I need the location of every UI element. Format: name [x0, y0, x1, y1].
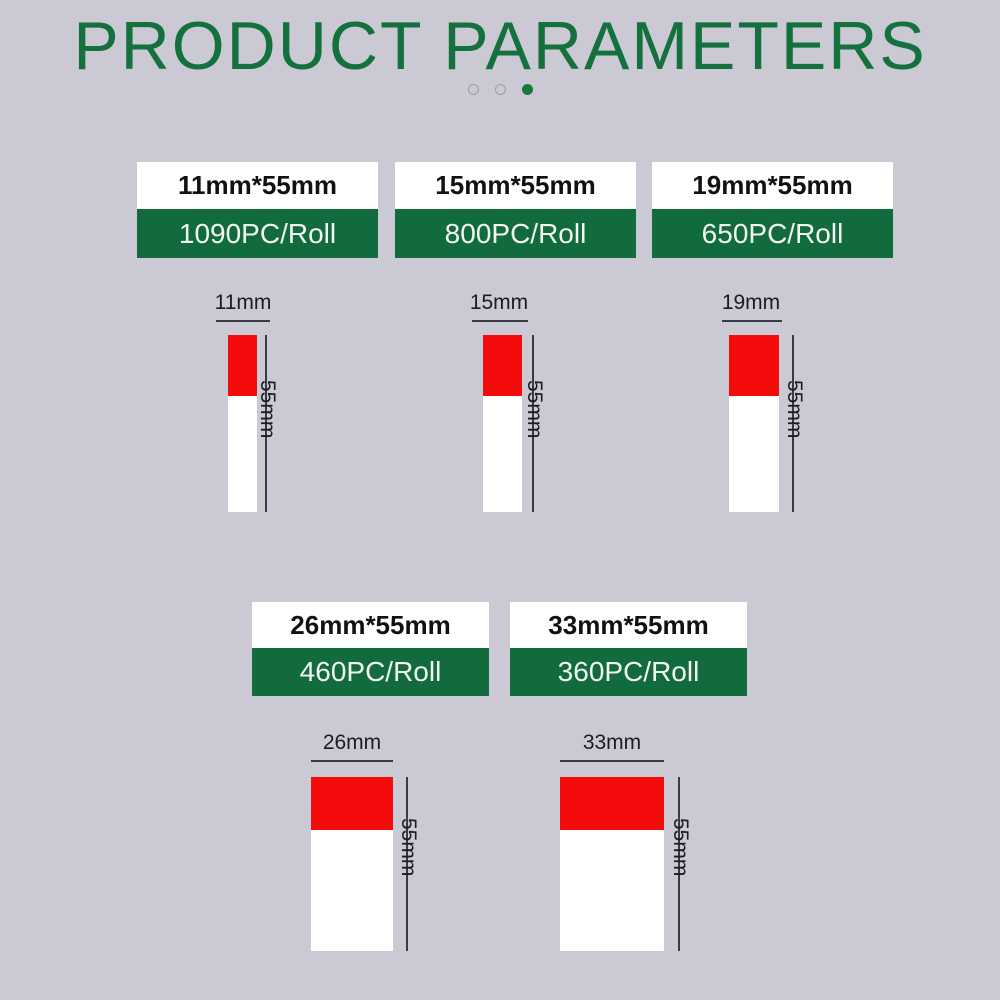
- width-dimension-rule-icon: [560, 760, 664, 762]
- carousel-dot-1[interactable]: [468, 84, 479, 95]
- label-sticker: [483, 335, 522, 512]
- spec-card-size-label: 11mm*55mm: [137, 162, 378, 209]
- sticker-diagram-26mm: 26mm 55mm: [300, 732, 450, 962]
- spec-card-size-label: 19mm*55mm: [652, 162, 893, 209]
- spec-card-size-label: 26mm*55mm: [252, 602, 489, 648]
- width-dimension-label: 15mm: [464, 292, 534, 314]
- spec-card-size-label: 33mm*55mm: [510, 602, 747, 648]
- height-dimension-label: 55mm: [670, 818, 691, 876]
- width-dimension-rule-icon: [472, 320, 528, 322]
- sticker-diagram-33mm: 33mm 55mm: [548, 732, 718, 962]
- spec-card-size-label: 15mm*55mm: [395, 162, 636, 209]
- spec-card-33mm[interactable]: 33mm*55mm 360PC/Roll: [510, 602, 747, 696]
- carousel-dots: [0, 84, 1000, 95]
- spec-card-count-label: 360PC/Roll: [510, 648, 747, 696]
- width-dimension-label: 11mm: [208, 292, 278, 314]
- width-dimension-label: 33mm: [573, 732, 651, 754]
- label-sticker: [311, 777, 393, 951]
- sticker-red-section: [311, 777, 393, 830]
- label-sticker: [228, 335, 257, 512]
- width-dimension-rule-icon: [311, 760, 393, 762]
- height-dimension-label: 55mm: [398, 818, 419, 876]
- sticker-red-section: [729, 335, 779, 396]
- width-dimension-rule-icon: [216, 320, 270, 322]
- sticker-red-section: [228, 335, 257, 396]
- spec-card-11mm[interactable]: 11mm*55mm 1090PC/Roll: [137, 162, 378, 258]
- spec-card-count-label: 650PC/Roll: [652, 209, 893, 258]
- spec-card-15mm[interactable]: 15mm*55mm 800PC/Roll: [395, 162, 636, 258]
- spec-card-26mm[interactable]: 26mm*55mm 460PC/Roll: [252, 602, 489, 696]
- page-title: PRODUCT PARAMETERS: [0, 8, 1000, 84]
- width-dimension-rule-icon: [722, 320, 782, 322]
- height-dimension-label: 55mm: [257, 380, 278, 438]
- width-dimension-label: 19mm: [716, 292, 786, 314]
- sticker-diagram-19mm: 19mm 55mm: [712, 292, 842, 517]
- spec-card-19mm[interactable]: 19mm*55mm 650PC/Roll: [652, 162, 893, 258]
- sticker-red-section: [483, 335, 522, 396]
- sticker-diagram-11mm: 11mm 55mm: [200, 292, 320, 517]
- width-dimension-label: 26mm: [313, 732, 391, 754]
- sticker-diagram-15mm: 15mm 55mm: [460, 292, 580, 517]
- label-sticker: [560, 777, 664, 951]
- product-parameters-page: PRODUCT PARAMETERS 11mm*55mm 1090PC/Roll…: [0, 0, 1000, 1000]
- height-dimension-label: 55mm: [524, 380, 545, 438]
- spec-card-count-label: 1090PC/Roll: [137, 209, 378, 258]
- carousel-dot-3-active[interactable]: [522, 84, 533, 95]
- carousel-dot-2[interactable]: [495, 84, 506, 95]
- height-dimension-label: 55mm: [784, 380, 805, 438]
- spec-card-count-label: 800PC/Roll: [395, 209, 636, 258]
- spec-card-count-label: 460PC/Roll: [252, 648, 489, 696]
- sticker-red-section: [560, 777, 664, 830]
- label-sticker: [729, 335, 779, 512]
